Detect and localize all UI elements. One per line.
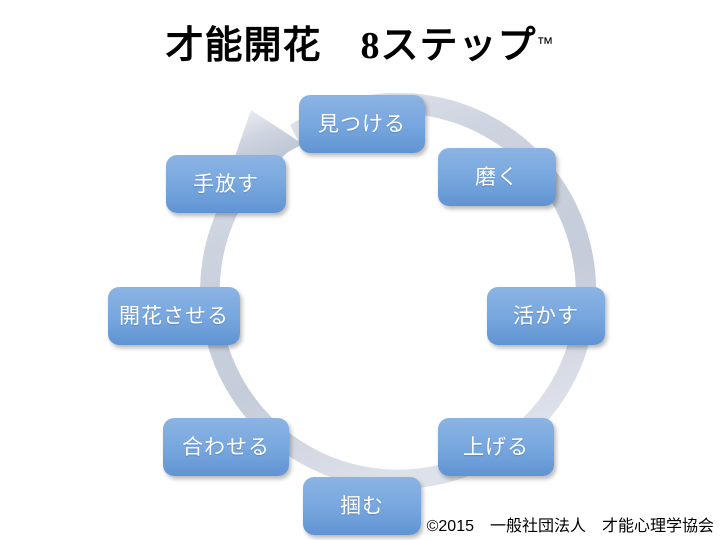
step-label-3: 活かす xyxy=(513,306,579,327)
step-box-5[interactable]: 掴む xyxy=(303,477,421,535)
step-label-4: 上げる xyxy=(463,437,529,458)
step-label-8: 手放す xyxy=(193,174,259,195)
cycle-ring-graphic xyxy=(0,0,720,540)
step-label-2: 磨く xyxy=(475,167,519,188)
step-box-6[interactable]: 合わせる xyxy=(163,418,289,476)
copyright-footer: ©2015 一般社団法人 才能心理学協会 xyxy=(427,512,714,536)
step-label-1: 見つける xyxy=(318,114,406,135)
step-label-7: 開花させる xyxy=(119,306,229,327)
slide-canvas: 才能開花 8ステップ™ 見つける 磨く 活かす 上げる 掴む 合わせる 開花させ… xyxy=(0,0,720,540)
step-box-1[interactable]: 見つける xyxy=(299,95,425,153)
step-box-7[interactable]: 開花させる xyxy=(108,287,240,345)
step-box-8[interactable]: 手放す xyxy=(166,155,286,213)
step-box-2[interactable]: 磨く xyxy=(438,148,556,206)
step-box-3[interactable]: 活かす xyxy=(487,287,605,345)
step-label-6: 合わせる xyxy=(182,437,270,458)
step-box-4[interactable]: 上げる xyxy=(438,418,554,476)
step-label-5: 掴む xyxy=(340,496,384,517)
